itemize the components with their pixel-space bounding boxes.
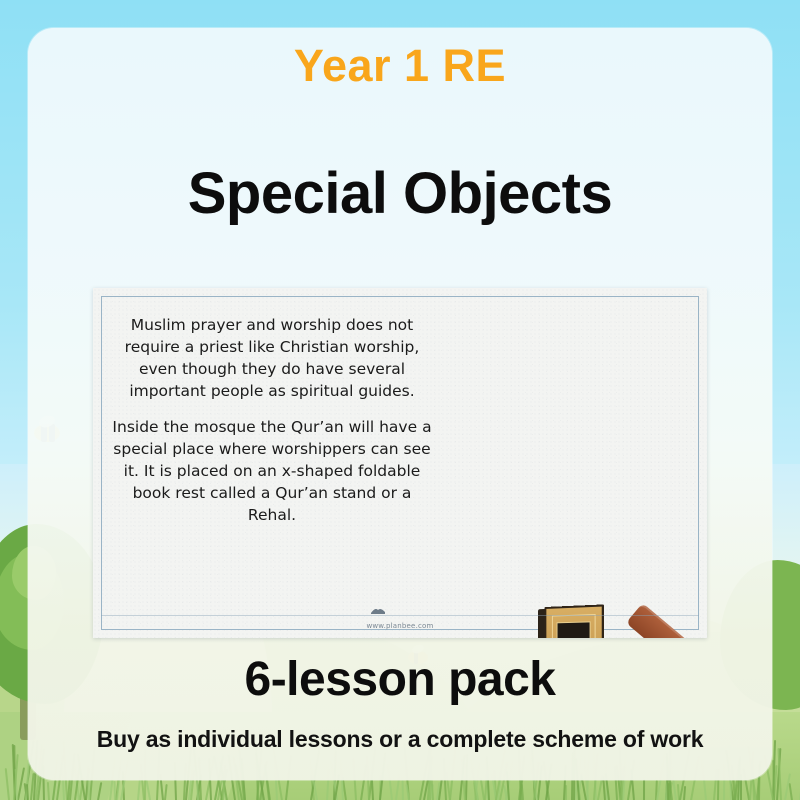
watermark-rule	[101, 615, 699, 616]
slide-paragraph-1: Muslim prayer and worship does not requi…	[111, 314, 433, 402]
poster-root: Year 1 RE Special Objects Muslim prayer …	[0, 0, 800, 800]
watermark-text: www.planbee.com	[93, 622, 707, 630]
page-title: Special Objects	[0, 160, 800, 227]
lesson-slide-preview[interactable]: Muslim prayer and worship does not requi…	[93, 288, 707, 638]
rehal-book-stand-image	[617, 594, 707, 638]
pack-label: 6-lesson pack	[0, 652, 800, 707]
slide-body-text: Muslim prayer and worship does not requi…	[111, 314, 433, 526]
buy-label: Buy as individual lessons or a complete …	[0, 726, 800, 753]
slide-paragraph-2: Inside the mosque the Qur’an will have a…	[111, 416, 433, 526]
bird-icon	[371, 607, 385, 614]
subject-title: Year 1 RE	[0, 40, 800, 92]
